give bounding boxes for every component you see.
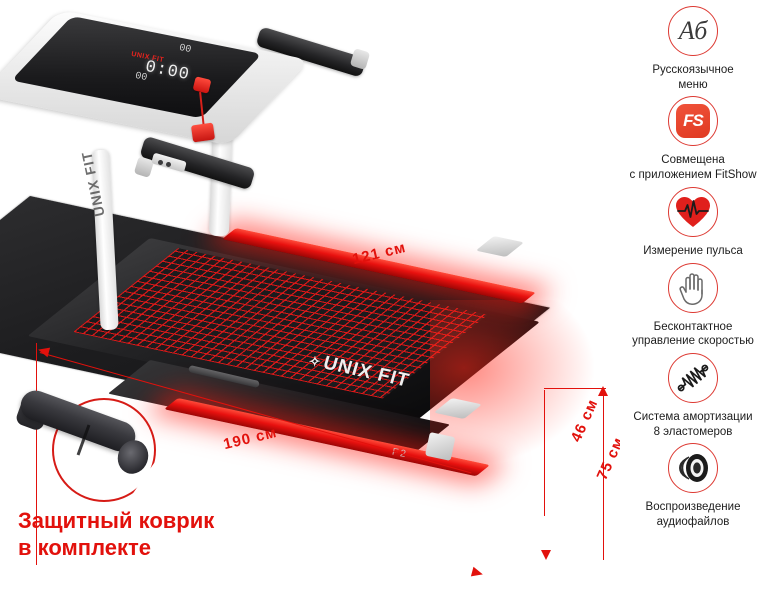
feature-text-pulse: Измерение пульса: [618, 244, 768, 259]
feature-line-2: 8 эластомеров: [618, 425, 768, 440]
feature-line-1: Измерение пульса: [618, 244, 768, 259]
arrowhead-mat-width-top-icon: [598, 386, 608, 396]
rail-end-cap-rear: [476, 236, 524, 257]
deck-corner-cap: [425, 432, 455, 461]
feature-text-russian-menu: Русскоязычное меню: [618, 63, 768, 92]
brand-mark-icon: ✧: [308, 353, 322, 370]
arrowhead-mat-length-end-icon: [471, 567, 484, 580]
feature-line-1: Бесконтактное: [618, 320, 768, 335]
feature-item-shock-absorption: Система амортизации 8 эластомеров: [617, 353, 769, 439]
speaker-icon: [668, 443, 718, 493]
feature-line-2: управление скоростью: [618, 334, 768, 349]
feature-item-audio-playback: Воспроизведение аудиофайлов: [617, 443, 769, 529]
fitshow-app-icon: FS: [668, 96, 718, 146]
pod-button-2-icon: [166, 162, 171, 167]
mat-callout-caption: Защитный коврик в комплекте: [18, 508, 258, 562]
feature-line-2: с приложением FitShow: [618, 168, 768, 183]
feature-text-audio-playback: Воспроизведение аудиофайлов: [618, 500, 768, 529]
arrowhead-mat-width-bottom-icon: [541, 550, 551, 560]
dimension-label-mat-length: 190 см: [222, 424, 279, 453]
pod-button-1-icon: [158, 160, 163, 165]
feature-line-1: Русскоязычное: [618, 63, 768, 78]
feature-item-fitshow: FS Совмещена с приложением FitShow: [617, 96, 769, 182]
product-illustration: ✧UNIX FIT F2 UNIX FIT UNIX FIT 0:00 00 0…: [0, 0, 620, 594]
feature-text-touchless-speed: Бесконтактное управление скоростью: [618, 320, 768, 349]
dimension-label-belt-width: 46 см: [568, 396, 602, 444]
shock-absorber-icon: [668, 353, 718, 403]
feature-line-1: Совмещена: [618, 153, 768, 168]
feature-text-fitshow: Совмещена с приложением FitShow: [618, 153, 768, 182]
fitshow-badge-text: FS: [676, 104, 710, 138]
feature-line-2: меню: [618, 78, 768, 93]
feature-line-2: аудиофайлов: [618, 515, 768, 530]
feature-item-pulse: Измерение пульса: [617, 187, 769, 259]
feature-text-shock-absorption: Система амортизации 8 эластомеров: [618, 410, 768, 439]
cyrillic-ab-icon: Аб: [668, 6, 718, 56]
mat-caption-line-2: в комплекте: [18, 535, 258, 562]
console-value-right: 00: [178, 43, 192, 56]
feature-line-1: Воспроизведение: [618, 500, 768, 515]
rail-end-cap-front: [434, 398, 482, 419]
dimension-line-belt-width: [544, 390, 545, 516]
feature-item-russian-menu: Аб Русскоязычное меню: [617, 6, 769, 92]
feature-item-touchless-speed: Бесконтактное управление скоростью: [617, 263, 769, 349]
safety-key-clip: [191, 123, 215, 143]
feature-list: Аб Русскоязычное меню FS Совмещена с при…: [617, 0, 769, 594]
feature-line-1: Система амортизации: [618, 410, 768, 425]
dimension-tick-belt-width: [544, 388, 606, 389]
heart-pulse-icon: [668, 187, 718, 237]
mat-caption-line-1: Защитный коврик: [18, 508, 258, 535]
console-value-left: 00: [134, 71, 148, 84]
hand-icon: [668, 263, 718, 313]
ab-glyph-text: Аб: [679, 16, 708, 46]
